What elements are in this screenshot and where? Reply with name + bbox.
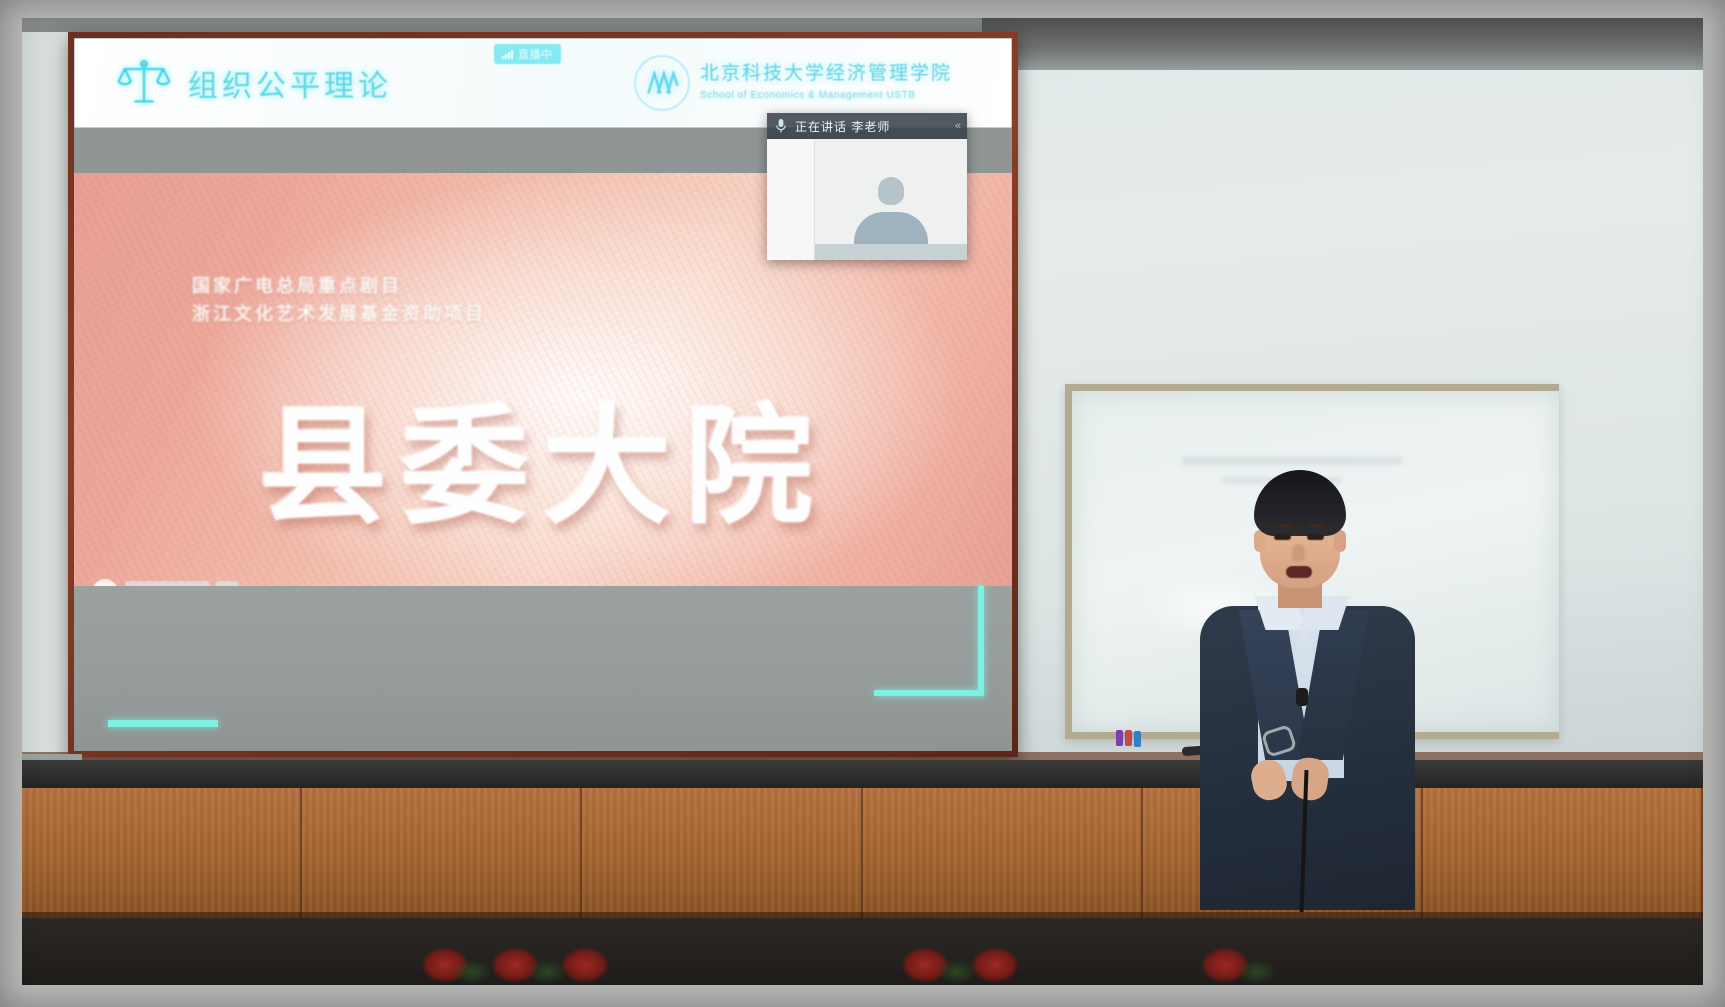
institution-name-cn: 北京科技大学经济管理学院 (700, 63, 952, 84)
signal-bars-icon (502, 50, 513, 59)
live-status-label: 直播中 (518, 46, 553, 62)
slide-footer-band (74, 586, 1012, 751)
speaking-status-label: 正在讲话 李老师 (795, 118, 890, 135)
decorative-plants (22, 918, 1703, 985)
whiteboard-residue-mark (1182, 457, 1402, 465)
institution-name-en: School of Economics & Management USTB (700, 90, 916, 101)
poster-approval-lines: 国家广电总局重点剧目 浙江文化艺术发展基金资助项目 (192, 273, 486, 329)
pip-side-panel (767, 139, 815, 260)
double-chevron-icon[interactable]: « (955, 120, 959, 132)
foliage (452, 960, 492, 984)
live-status-badge: 直播中 (494, 44, 561, 64)
balance-scale-icon (116, 55, 172, 111)
lecture-room-scene: 组织公平理论 (22, 18, 1703, 985)
ceiling-shadow-band (982, 18, 1703, 70)
poster-approval-line: 浙江文化艺术发展基金资助项目 (192, 301, 486, 329)
accent-bar-right-vertical (978, 586, 984, 696)
pip-camera-view (815, 139, 967, 260)
foliage (1237, 960, 1277, 984)
institution-logo: 北京科技大学经济管理学院 School of Economics & Manag… (634, 55, 952, 111)
presenter-eyebrow-right (1306, 524, 1326, 528)
marker-pen (1116, 730, 1123, 746)
counter-panel (1423, 788, 1703, 918)
presenter-hair (1254, 470, 1346, 536)
pip-desk (815, 244, 967, 260)
flower (562, 948, 608, 982)
ustb-sem-logo-icon (634, 55, 690, 111)
pip-titlebar: 正在讲话 李老师 « (767, 113, 967, 139)
lapel-microphone-icon (1296, 688, 1308, 706)
counter-panel (582, 788, 862, 918)
marker-pen (1134, 731, 1141, 747)
foliage (937, 960, 977, 984)
counter-front-panels (22, 788, 1703, 918)
presenter (1200, 470, 1415, 910)
presenter-nose (1292, 544, 1305, 562)
foliage (527, 960, 567, 984)
poster-approval-line: 国家广电总局重点剧目 (192, 273, 486, 301)
pip-video-feed (767, 139, 967, 260)
video-conference-overlay[interactable]: 正在讲话 李老师 « (767, 113, 967, 260)
presenter-eyebrow-left (1273, 524, 1293, 528)
ceiling-sliver (22, 18, 1032, 32)
presenter-eye-left (1274, 534, 1291, 540)
counter-top-surface (22, 760, 1703, 788)
counter-panel (863, 788, 1143, 918)
accent-bar-right-horizontal (874, 690, 984, 696)
poster-title: 县委大院 (74, 363, 1012, 548)
pip-person-head (878, 177, 904, 205)
counter-panel (302, 788, 582, 918)
presenter-mouth (1286, 566, 1312, 578)
microphone-icon (775, 118, 787, 134)
slide-title: 组织公平理论 (188, 61, 392, 105)
photo-border: 组织公平理论 (0, 0, 1725, 1007)
flower (972, 948, 1018, 982)
counter-panel (22, 788, 302, 918)
accent-bar-left (108, 720, 218, 727)
marker-pen (1125, 730, 1132, 746)
presenter-eye-right (1307, 534, 1324, 540)
